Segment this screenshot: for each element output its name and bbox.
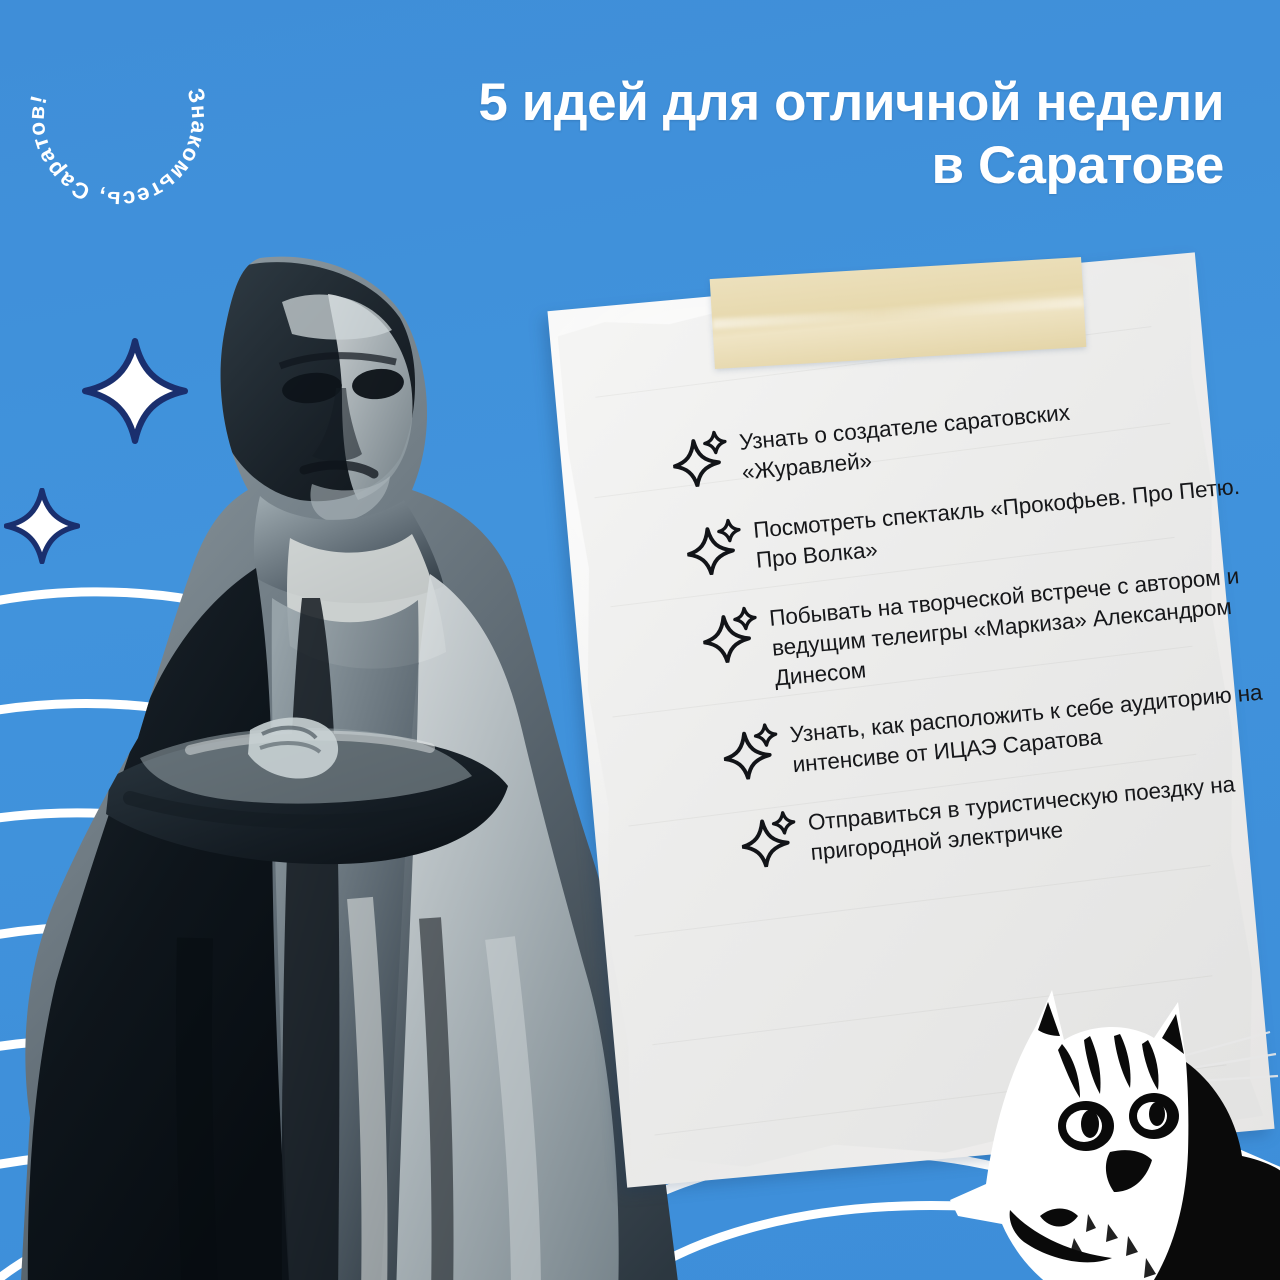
- four-point-star-large-icon: [82, 338, 188, 444]
- list-item-text: Отправиться в туристическую поездку на п…: [806, 760, 1280, 868]
- sparkle-star-icon: [684, 516, 745, 577]
- sparkle-star-icon: [670, 428, 731, 489]
- list-item-text: Посмотреть спектакль «Прокофьев. Про Пет…: [752, 468, 1248, 575]
- list-item-text: Побывать на творческой встрече с автором…: [768, 555, 1278, 693]
- sparkle-star-icon: [721, 721, 782, 782]
- headline-line-1: 5 идей для отличной недели: [284, 72, 1224, 135]
- headline-line-2: в Саратове: [284, 135, 1224, 198]
- poster-headline: 5 идей для отличной недели в Саратове: [284, 72, 1224, 197]
- four-point-star-small-icon: [4, 488, 80, 564]
- sparkle-star-icon: [700, 604, 761, 665]
- cat-head-illustration: [940, 966, 1280, 1280]
- list-item-text: Узнать, как расположить к себе аудиторию…: [788, 673, 1280, 780]
- brand-circle-logo: Знакомьтесь, Саратов!: [18, 18, 218, 218]
- poster-canvas: Знакомьтесь, Саратов! 5 идей для отлично…: [0, 0, 1280, 1280]
- sparkle-star-icon: [739, 809, 800, 870]
- brand-circle-text: Знакомьтесь, Саратов!: [24, 85, 213, 212]
- list-item: Побывать на творческой встрече с автором…: [700, 555, 1278, 699]
- ideas-list: Узнать о создателе саратовских «Журавлей…: [660, 376, 1280, 904]
